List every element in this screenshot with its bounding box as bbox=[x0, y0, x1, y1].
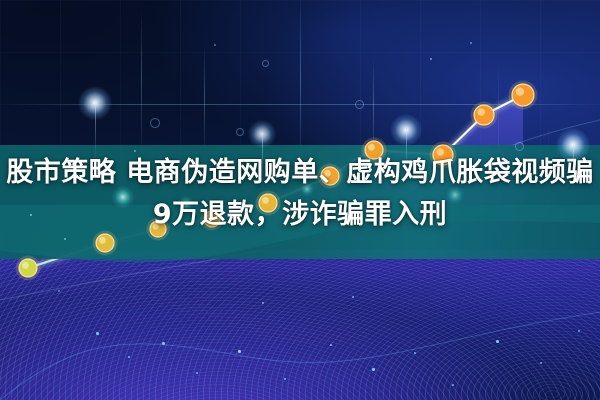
headline-line-1: 股市策略 电商伪造网购单、虚构鸡爪胀袋视频骗 bbox=[0, 152, 600, 194]
spark bbox=[496, 340, 499, 343]
spark bbox=[196, 372, 198, 374]
spark bbox=[470, 42, 472, 44]
spark bbox=[414, 352, 416, 354]
spark bbox=[262, 302, 264, 304]
spark bbox=[214, 44, 216, 46]
headline-line-2: 9万退款，涉诈骗罪入刑 bbox=[0, 194, 600, 236]
spark bbox=[162, 342, 165, 345]
ring-particle bbox=[515, 142, 524, 151]
headline-text: 股市策略 电商伪造网购单、虚构鸡爪胀袋视频骗 9万退款，涉诈骗罪入刑 bbox=[0, 152, 600, 236]
banner-image: 股市策略 电商伪造网购单、虚构鸡爪胀袋视频骗 9万退款，涉诈骗罪入刑 bbox=[0, 0, 600, 400]
ring-particle bbox=[236, 128, 244, 136]
spark bbox=[330, 344, 332, 346]
spark bbox=[430, 58, 432, 60]
spark bbox=[58, 290, 60, 292]
spark bbox=[96, 332, 99, 335]
ring-particle bbox=[355, 100, 364, 109]
spark bbox=[128, 356, 130, 358]
spark bbox=[238, 350, 241, 353]
spark bbox=[452, 384, 454, 386]
spark bbox=[64, 238, 66, 240]
spark bbox=[284, 378, 286, 380]
ring-particle bbox=[262, 60, 269, 67]
spark bbox=[372, 368, 375, 371]
spark bbox=[578, 330, 580, 332]
spark bbox=[540, 362, 542, 364]
ring-particle bbox=[150, 118, 160, 128]
spark bbox=[352, 296, 354, 298]
